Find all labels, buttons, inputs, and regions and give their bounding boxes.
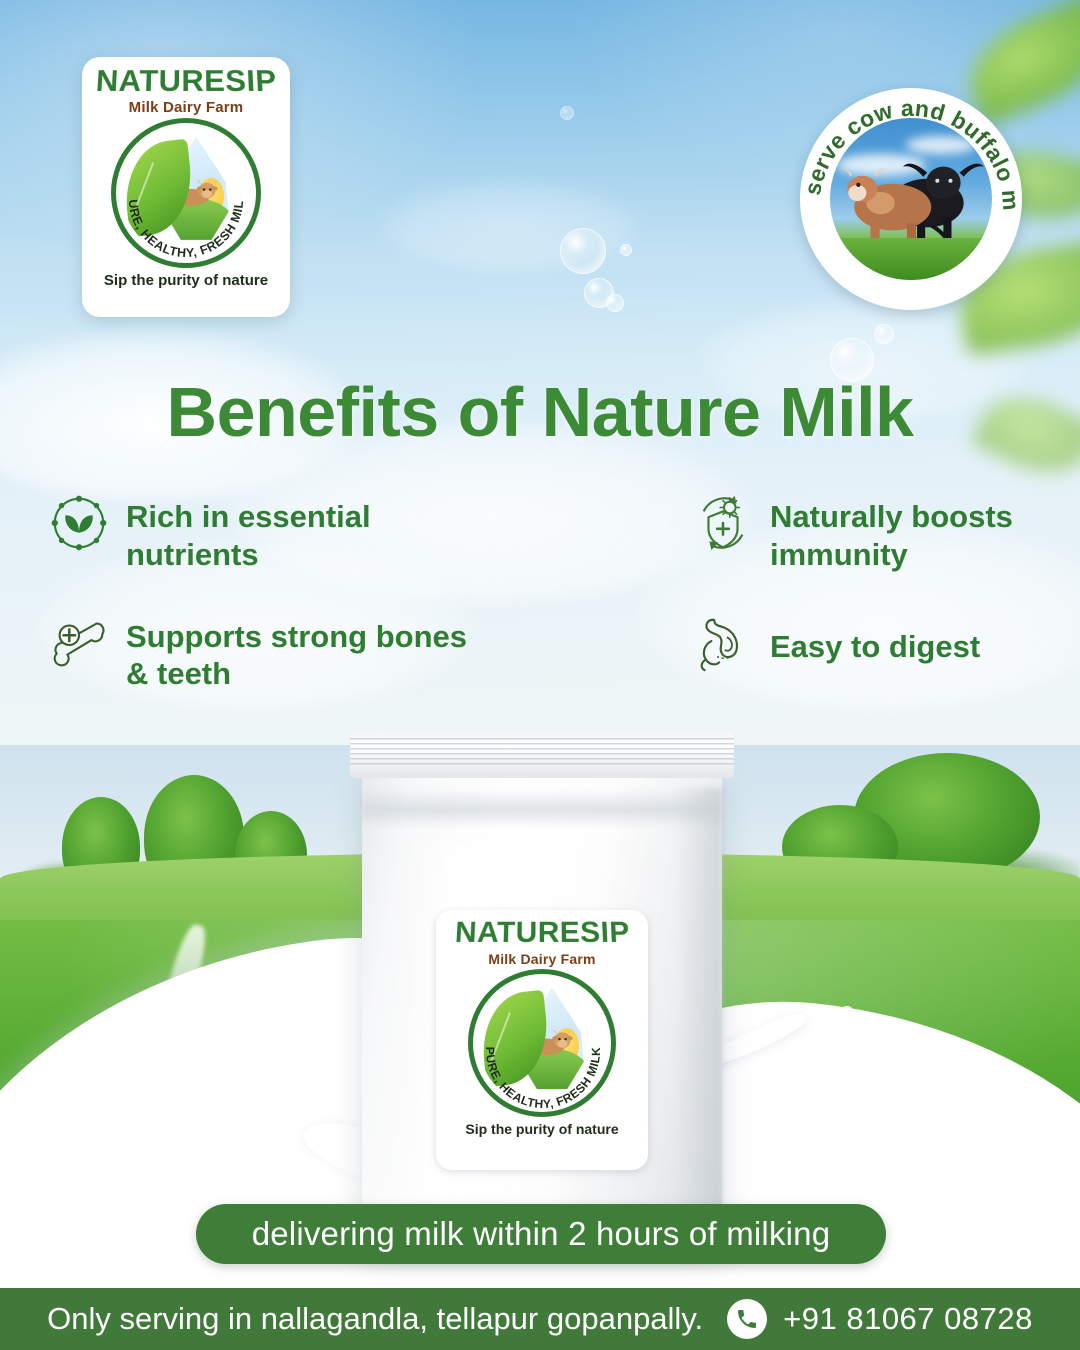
benefit-item: Rich in essential nutrients <box>48 492 488 574</box>
packet-brand-label: NATURESIP Milk Dairy Farm <box>436 910 648 1170</box>
packet-brand-name: NATURESIP <box>454 918 631 948</box>
phone-icon <box>727 1299 767 1339</box>
leaf-nutrients-icon <box>48 492 110 554</box>
svg-text:PURE, HEALTHY, FRESH MILK: PURE, HEALTHY, FRESH MILK <box>111 118 246 260</box>
packet-tagline: Sip the purity of nature <box>465 1121 618 1137</box>
milk-droplet <box>904 1036 922 1054</box>
brand-logo-card: NATURESIP Milk Dairy Farm <box>82 57 290 317</box>
bubble-icon <box>560 106 574 120</box>
phone-contact[interactable]: +91 81067 08728 <box>727 1299 1033 1339</box>
milk-droplet <box>840 1006 854 1020</box>
poster-canvas: NATURESIP Milk Dairy Farm <box>0 0 1080 1350</box>
ring-text: PURE, HEALTHY, FRESH MILK <box>111 118 261 268</box>
milk-droplet <box>864 1056 890 1082</box>
packet-emblem-icon: PURE, HEALTHY, FRESH MILK <box>468 969 616 1117</box>
bubble-icon <box>560 228 606 274</box>
benefit-label: Supports strong bones & teeth <box>126 612 488 694</box>
brand-name: NATURESIP <box>95 65 277 96</box>
milk-drop-cow-leaf-emblem-icon: PURE, HEALTHY, FRESH MILK <box>111 118 261 268</box>
promo-banner-text: delivering milk within 2 hours of milkin… <box>252 1215 831 1253</box>
benefits-column-left: Rich in essential nutrients Supports str… <box>48 492 488 731</box>
stomach-digestion-icon <box>692 612 754 674</box>
badge-ring-text: We serve cow and buffalo milk <box>800 88 1022 310</box>
brand-subtitle: Milk Dairy Farm <box>129 99 244 116</box>
page-title: Benefits of Nature Milk <box>0 372 1080 452</box>
bubble-icon <box>620 244 632 256</box>
packet-ring-text: PURE, HEALTHY, FRESH MILK <box>468 969 618 1119</box>
promo-banner: delivering milk within 2 hours of milkin… <box>196 1204 886 1264</box>
milk-droplet <box>218 1046 252 1092</box>
service-area-text: Only serving in nallagandla, tellapur go… <box>47 1301 703 1337</box>
svg-text:PURE, HEALTHY, FRESH MILK: PURE, HEALTHY, FRESH MILK <box>483 1047 603 1111</box>
cow-buffalo-badge: We serve cow and buffalo milk <box>800 88 1022 310</box>
phone-number: +91 81067 08728 <box>783 1301 1033 1337</box>
bubble-icon <box>606 294 624 312</box>
benefit-label: Easy to digest <box>770 612 980 666</box>
benefit-item: Naturally boosts immunity <box>692 492 1072 574</box>
bubble-icon <box>874 324 894 344</box>
shield-immunity-icon <box>692 492 754 554</box>
benefit-item: Easy to digest <box>692 612 1072 674</box>
bone-health-icon <box>48 612 110 674</box>
product-packet: NATURESIP Milk Dairy Farm <box>340 728 744 1248</box>
footer-bar: Only serving in nallagandla, tellapur go… <box>0 1288 1080 1350</box>
benefit-label: Rich in essential nutrients <box>126 492 488 574</box>
brand-tagline: Sip the purity of nature <box>104 272 268 289</box>
svg-text:We serve cow and buffalo milk: We serve cow and buffalo milk <box>800 88 1022 212</box>
benefit-label: Naturally boosts immunity <box>770 492 1072 574</box>
benefit-item: Supports strong bones & teeth <box>48 612 488 694</box>
benefits-column-right: Naturally boosts immunity Easy to digest <box>692 492 1072 712</box>
packet-brand-subtitle: Milk Dairy Farm <box>488 951 595 967</box>
